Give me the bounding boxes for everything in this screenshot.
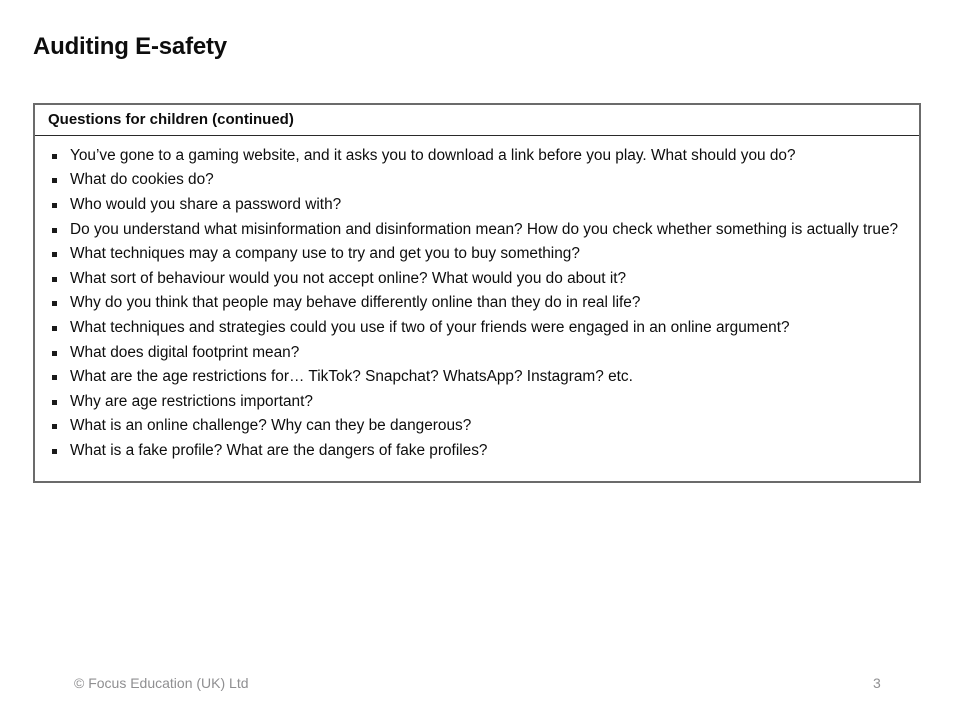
square-bullet-icon <box>52 203 57 208</box>
list-item-label: What do cookies do? <box>70 171 214 188</box>
list-item: What techniques may a company use to try… <box>46 242 909 267</box>
list-item: Why do you think that people may behave … <box>46 291 909 316</box>
list-item: You’ve gone to a gaming website, and it … <box>46 144 909 169</box>
questions-table: Questions for children (continued) You’v… <box>33 103 921 483</box>
square-bullet-icon <box>52 154 57 159</box>
list-item-label: You’ve gone to a gaming website, and it … <box>70 147 796 164</box>
square-bullet-icon <box>52 400 57 405</box>
list-item: Do you understand what misinformation an… <box>46 218 909 243</box>
list-item-label: Do you understand what misinformation an… <box>70 221 898 238</box>
list-item: What does digital footprint mean? <box>46 341 909 366</box>
square-bullet-icon <box>52 351 57 356</box>
square-bullet-icon <box>52 228 57 233</box>
list-item: Why are age restrictions important? <box>46 390 909 415</box>
list-item-label: What techniques may a company use to try… <box>70 245 580 262</box>
square-bullet-icon <box>52 375 57 380</box>
square-bullet-icon <box>52 326 57 331</box>
footer-page-number: 3 <box>873 672 881 694</box>
list-item: Who would you share a password with? <box>46 193 909 218</box>
list-item: What are the age restrictions for… TikTo… <box>46 365 909 390</box>
square-bullet-icon <box>52 424 57 429</box>
questions-list: You’ve gone to a gaming website, and it … <box>46 144 909 464</box>
table-header-label: Questions for children (continued) <box>48 111 919 130</box>
list-item-label: What are the age restrictions for… TikTo… <box>70 368 633 385</box>
slide-footer: © Focus Education (UK) Ltd 3 <box>0 672 960 702</box>
list-item: What techniques and strategies could you… <box>46 316 909 341</box>
page-title: Auditing E-safety <box>33 33 227 61</box>
list-item-label: Why do you think that people may behave … <box>70 294 640 311</box>
list-item: What is a fake profile? What are the dan… <box>46 439 909 464</box>
square-bullet-icon <box>52 277 57 282</box>
slide-canvas: Auditing E-safety Questions for children… <box>0 0 960 720</box>
list-item-label: What sort of behaviour would you not acc… <box>70 270 626 287</box>
list-item-label: What is an online challenge? Why can the… <box>70 417 471 434</box>
list-item: What do cookies do? <box>46 168 909 193</box>
square-bullet-icon <box>52 252 57 257</box>
list-item: What is an online challenge? Why can the… <box>46 414 909 439</box>
list-item-label: What does digital footprint mean? <box>70 344 299 361</box>
footer-copyright: © Focus Education (UK) Ltd <box>74 672 249 694</box>
square-bullet-icon <box>52 178 57 183</box>
square-bullet-icon <box>52 449 57 454</box>
list-item-label: Why are age restrictions important? <box>70 393 313 410</box>
table-body-cell: You’ve gone to a gaming website, and it … <box>35 136 919 482</box>
list-item-label: What is a fake profile? What are the dan… <box>70 442 487 459</box>
list-item-label: Who would you share a password with? <box>70 196 341 213</box>
list-item: What sort of behaviour would you not acc… <box>46 267 909 292</box>
square-bullet-icon <box>52 301 57 306</box>
list-item-label: What techniques and strategies could you… <box>70 319 790 336</box>
table-header-row: Questions for children (continued) <box>35 105 919 136</box>
